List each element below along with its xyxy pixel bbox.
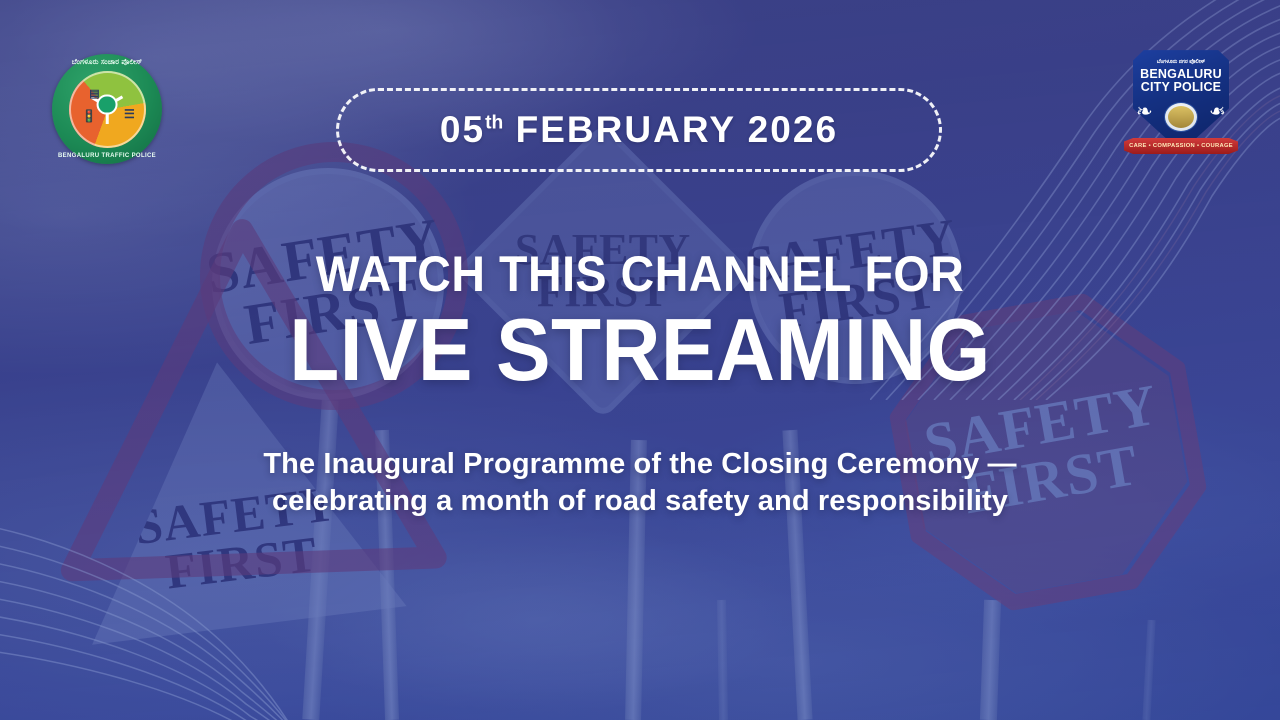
logo-kannada-text: ಬೆಂಗಳೂರು ನಗರ ಪೊಲೀಸ್ (1122, 59, 1240, 66)
date-badge-text: 05th FEBRUARY 2026 (440, 109, 838, 151)
headline-block: WATCH THIS CHANNEL FOR LIVE STREAMING (0, 248, 1280, 395)
date-day: 05 (440, 109, 485, 150)
poster-canvas: SAFETY FIRST SAFETY FIRST SAFETY FIRST S… (0, 0, 1280, 720)
traffic-signal-icon: 🚦 (82, 109, 97, 123)
bengaluru-city-police-logo: ಬೆಂಗಳೂರು ನಗರ ಪೊಲೀಸ್ BENGALURU CITY POLIC… (1122, 44, 1240, 164)
logo-line-2: CITY POLICE (1122, 80, 1240, 94)
logo-arc-text: BENGALURU TRAFFIC POLICE (52, 153, 162, 159)
date-month-year: FEBRUARY 2026 (516, 109, 839, 150)
bengaluru-traffic-police-logo: ಬೆಂಗಳೂರು ಸಂಚಾರ ಪೊಲೀಸ್ BENGALURU TRAFFIC … (52, 54, 162, 164)
state-emblem-icon (1164, 102, 1198, 132)
subtitle-block: The Inaugural Programme of the Closing C… (0, 446, 1280, 520)
date-ordinal-suffix: th (485, 113, 503, 134)
motto-ribbon: CARE • COMPASSION • COURAGE (1124, 138, 1238, 154)
state-emblem-inner (1168, 106, 1194, 128)
headline-line-1: WATCH THIS CHANNEL FOR (45, 248, 1235, 301)
logo-kannada-text: ಬೆಂಗಳೂರು ಸಂಚಾರ ಪೊಲೀಸ್ (52, 59, 162, 66)
logo-hub (97, 94, 118, 115)
pedestrian-crossing-icon: ☰ (124, 107, 135, 121)
logo-line-1: BENGALURU (1122, 67, 1240, 81)
laurel-wreath-icon: ❧ (1209, 102, 1226, 122)
date-badge: 05th FEBRUARY 2026 (336, 88, 942, 172)
laurel-wreath-icon: ❧ (1136, 102, 1153, 122)
subtitle-line-2: celebrating a month of road safety and r… (0, 483, 1280, 520)
headline-line-2: LIVE STREAMING (45, 305, 1235, 395)
subtitle-line-1: The Inaugural Programme of the Closing C… (0, 446, 1280, 483)
